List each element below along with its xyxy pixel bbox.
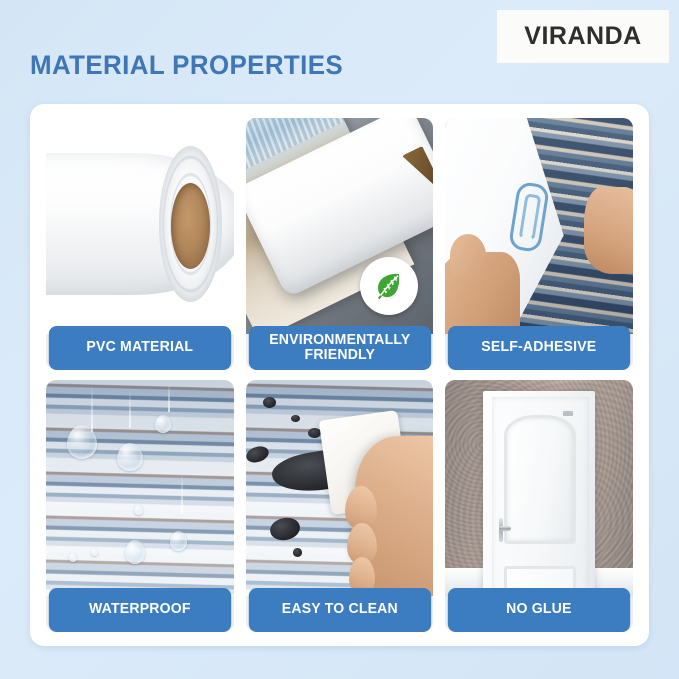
water-droplet [67,425,97,459]
adhesive-hand-right [584,187,633,273]
door-frame [483,391,596,596]
door-vent [563,411,574,416]
feature-card-no-glue[interactable]: NO GLUE [445,380,633,632]
feature-label-waterproof: WATERPROOF [49,588,231,632]
door-slab [492,397,589,596]
dirt-stain [293,548,302,557]
leaf-icon [372,269,406,303]
eco-badge [360,257,418,315]
door-panel-top [504,415,576,544]
water-drip [181,471,183,514]
feature-image-environmentally-friendly [246,118,434,334]
adhesive-hand-left [445,252,520,334]
door-handle-lever [499,526,511,530]
feature-image-pvc-material [46,118,234,334]
feature-label-pvc-material: PVC MATERIAL [49,326,231,370]
water-droplet [170,531,187,551]
dirt-stain [291,415,300,423]
brand-name: VIRANDA [524,22,641,51]
feature-image-self-adhesive [445,118,633,334]
feature-card-easy-to-clean[interactable]: EASY TO CLEAN [246,380,434,632]
door-handle [495,518,511,542]
water-droplet [155,415,171,433]
feature-image-easy-to-clean [246,380,434,596]
page-title: MATERIAL PROPERTIES [30,50,343,81]
feature-card-pvc-material[interactable]: PVC MATERIAL [46,118,234,370]
feature-card-waterproof[interactable]: WATERPROOF [46,380,234,632]
waterproof-shading [46,380,234,596]
feature-card-environmentally-friendly[interactable]: ENVIRONMENTALLY FRIENDLY [246,118,434,370]
dirt-stain [308,428,321,439]
water-droplet [69,553,77,562]
water-drip [91,384,93,432]
brand-logo-box: VIRANDA [497,10,669,63]
feature-label-easy-to-clean: EASY TO CLEAN [248,588,430,632]
features-panel: PVC MATERIAL [30,104,649,646]
feature-image-waterproof [46,380,234,596]
feature-label-environmentally-friendly: ENVIRONMENTALLY FRIENDLY [248,326,430,370]
water-droplet [125,540,145,564]
pvc-cardboard-core [171,183,210,269]
features-grid: PVC MATERIAL [46,118,633,632]
water-drip [168,382,170,412]
feature-label-no-glue: NO GLUE [448,588,630,632]
feature-label-self-adhesive: SELF-ADHESIVE [448,326,630,370]
feature-image-no-glue [445,380,633,596]
infographic-page: VIRANDA MATERIAL PROPERTIES PVC MATERIAL [0,0,679,679]
dirt-stain [263,397,276,408]
feature-card-self-adhesive[interactable]: SELF-ADHESIVE [445,118,633,370]
water-drip [129,389,131,428]
